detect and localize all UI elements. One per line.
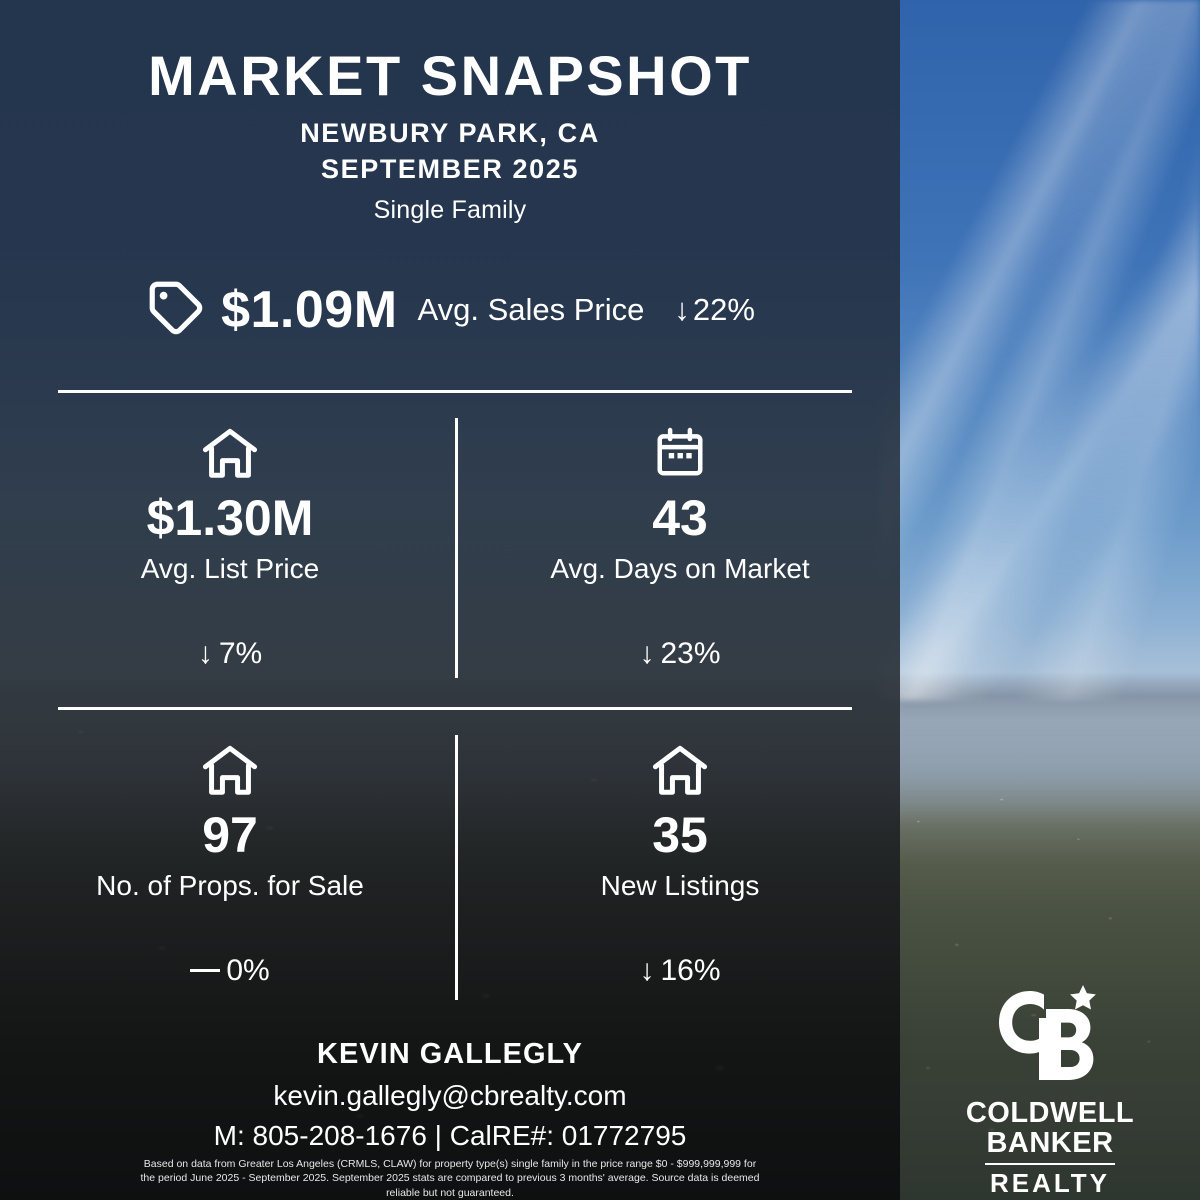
stat-change-value: 16% xyxy=(660,954,720,988)
stat-card-avg-list-price: $1.30M Avg. List Price ↓ 7% xyxy=(5,420,455,671)
stat-change-value: 7% xyxy=(219,637,262,671)
stat-card-avg-days-on-market: 43 Avg. Days on Market ↓ 23% xyxy=(455,420,905,671)
property-type-label: Single Family xyxy=(0,196,900,225)
agent-email[interactable]: kevin.gallegly@cbrealty.com xyxy=(0,1080,900,1112)
arrow-down-icon: ↓ xyxy=(198,637,213,671)
stat-change-value: 0% xyxy=(226,954,269,988)
stat-label: Avg. List Price xyxy=(5,553,455,585)
arrow-down-icon: ↓ xyxy=(674,292,690,328)
stat-value: $1.30M xyxy=(5,492,455,545)
period-label: SEPTEMBER 2025 xyxy=(0,154,900,186)
stat-label: Avg. Days on Market xyxy=(455,553,905,585)
flat-dash-icon xyxy=(190,969,220,972)
hero-change: ↓ 22% xyxy=(674,292,755,328)
agent-phone-license: M: 805-208-1676 | CalRE#: 01772795 xyxy=(0,1120,900,1152)
divider-top xyxy=(58,390,852,393)
logo-line-2: BANKER xyxy=(955,1128,1145,1158)
stat-change: 0% xyxy=(5,954,455,988)
house-icon xyxy=(5,420,455,480)
price-tag-icon xyxy=(145,277,207,344)
arrow-down-icon: ↓ xyxy=(639,637,654,671)
stat-change: ↓ 16% xyxy=(455,954,905,988)
stat-value: 43 xyxy=(455,492,905,545)
stat-card-props-for-sale: 97 No. of Props. for Sale 0% xyxy=(5,737,455,988)
hero-value: $1.09M xyxy=(221,280,397,340)
agent-name: KEVIN GALLEGLY xyxy=(0,1038,900,1071)
stat-label: No. of Props. for Sale xyxy=(5,870,455,902)
house-icon xyxy=(455,737,905,797)
page-title: MARKET SNAPSHOT xyxy=(0,48,900,104)
hero-label: Avg. Sales Price xyxy=(418,292,645,328)
stat-label: New Listings xyxy=(455,870,905,902)
hero-stat: $1.09M Avg. Sales Price ↓ 22% xyxy=(0,277,900,344)
logo-divider xyxy=(985,1163,1115,1165)
house-icon xyxy=(5,737,455,797)
location-label: NEWBURY PARK, CA xyxy=(0,118,900,150)
stat-value: 97 xyxy=(5,809,455,862)
cb-monogram-star-icon xyxy=(955,985,1145,1098)
agent-contact-block: KEVIN GALLEGLY kevin.gallegly@cbrealty.c… xyxy=(0,1038,900,1152)
stat-card-new-listings: 35 New Listings ↓ 16% xyxy=(455,737,905,988)
coldwell-banker-logo: COLDWELL BANKER REALTY xyxy=(955,985,1145,1199)
stat-change: ↓ 7% xyxy=(5,637,455,671)
calendar-icon xyxy=(455,420,905,480)
stat-change-value: 23% xyxy=(660,637,720,671)
snapshot-content: MARKET SNAPSHOT NEWBURY PARK, CA SEPTEMB… xyxy=(0,0,900,1200)
hero-change-value: 22% xyxy=(693,292,755,328)
arrow-down-icon: ↓ xyxy=(639,954,654,988)
logo-line-3: REALTY xyxy=(955,1168,1145,1199)
disclaimer-text: Based on data from Greater Los Angeles (… xyxy=(140,1157,760,1200)
divider-middle xyxy=(58,707,852,710)
cloud-texture xyxy=(880,0,1200,700)
stat-value: 35 xyxy=(455,809,905,862)
stat-change: ↓ 23% xyxy=(455,637,905,671)
logo-line-1: COLDWELL xyxy=(955,1098,1145,1128)
